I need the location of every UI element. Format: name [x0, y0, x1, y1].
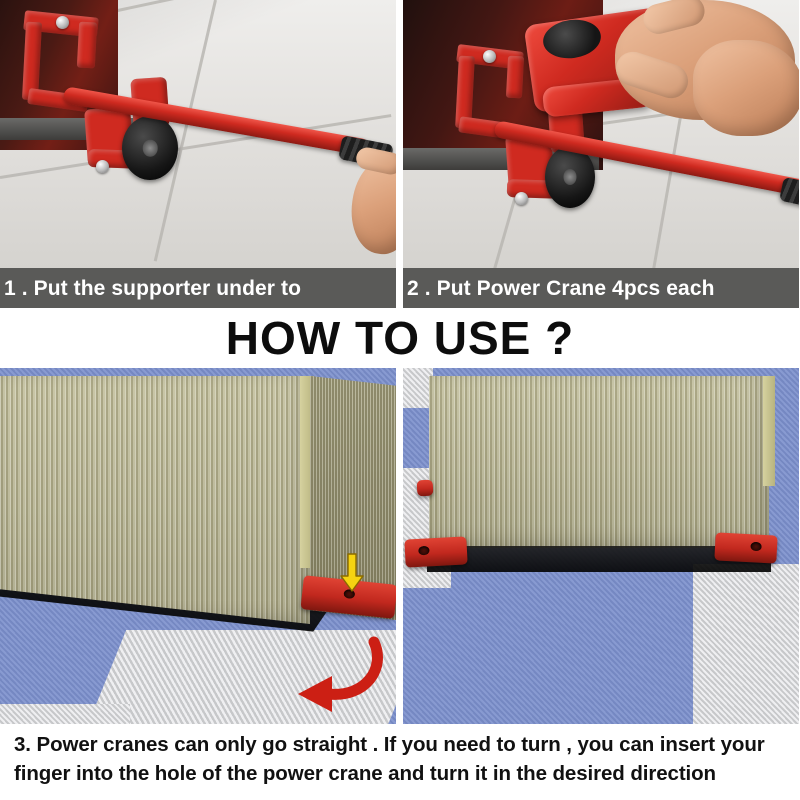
step-2-photo	[403, 0, 799, 268]
cabinet-front	[0, 376, 310, 624]
roller-wheel	[122, 116, 178, 180]
bottom-left-photo	[0, 368, 396, 724]
cabinet-front	[429, 376, 769, 548]
lifter-hook-right	[77, 22, 97, 69]
axle-bolt-icon	[515, 192, 528, 205]
step-1-caption-bar: 1 . Put the supporter under to	[0, 268, 396, 308]
crane-finger-hole	[418, 546, 429, 556]
step-2-caption-bar: 2 . Put Power Crane 4pcs each	[403, 268, 799, 308]
step-1-panel: 1 . Put the supporter under to	[0, 0, 396, 308]
power-crane-far	[417, 480, 434, 497]
step-2-panel: 2 . Put Power Crane 4pcs each	[403, 0, 799, 308]
white-carpet-tile	[0, 704, 130, 724]
page-title: HOW TO USE ?	[226, 315, 575, 361]
rotation-direction-arrow-icon	[272, 636, 388, 714]
bottom-photo-row	[0, 368, 800, 724]
furniture-lifter-tool	[0, 0, 396, 268]
footer-note-text: 3. Power cranes can only go straight . I…	[14, 730, 786, 788]
footer-note-area: 3. Power cranes can only go straight . I…	[0, 730, 800, 800]
white-carpet-tile	[693, 564, 799, 724]
step-2-caption-text: 2 . Put Power Crane 4pcs each	[403, 278, 715, 299]
hand-back	[693, 40, 799, 136]
title-band: HOW TO USE ?	[0, 308, 800, 368]
how-to-use-infographic: 1 . Put the supporter under to	[0, 0, 800, 800]
hook-bolt-icon	[483, 50, 496, 63]
cabinet-edge	[763, 376, 775, 486]
crane-finger-hole	[750, 541, 761, 551]
top-photo-row: 1 . Put the supporter under to	[0, 0, 800, 308]
rubber-grip	[779, 177, 799, 211]
step-1-photo	[0, 0, 396, 268]
step-1-caption-text: 1 . Put the supporter under to	[0, 278, 301, 299]
hook-bolt-icon	[56, 16, 69, 29]
bottom-right-photo	[403, 368, 799, 724]
axle-bolt-icon	[96, 160, 109, 173]
power-crane-right	[714, 532, 777, 563]
lifter-hook-right	[506, 56, 524, 99]
power-crane-left	[404, 536, 467, 567]
insert-finger-down-arrow-icon	[338, 552, 366, 594]
